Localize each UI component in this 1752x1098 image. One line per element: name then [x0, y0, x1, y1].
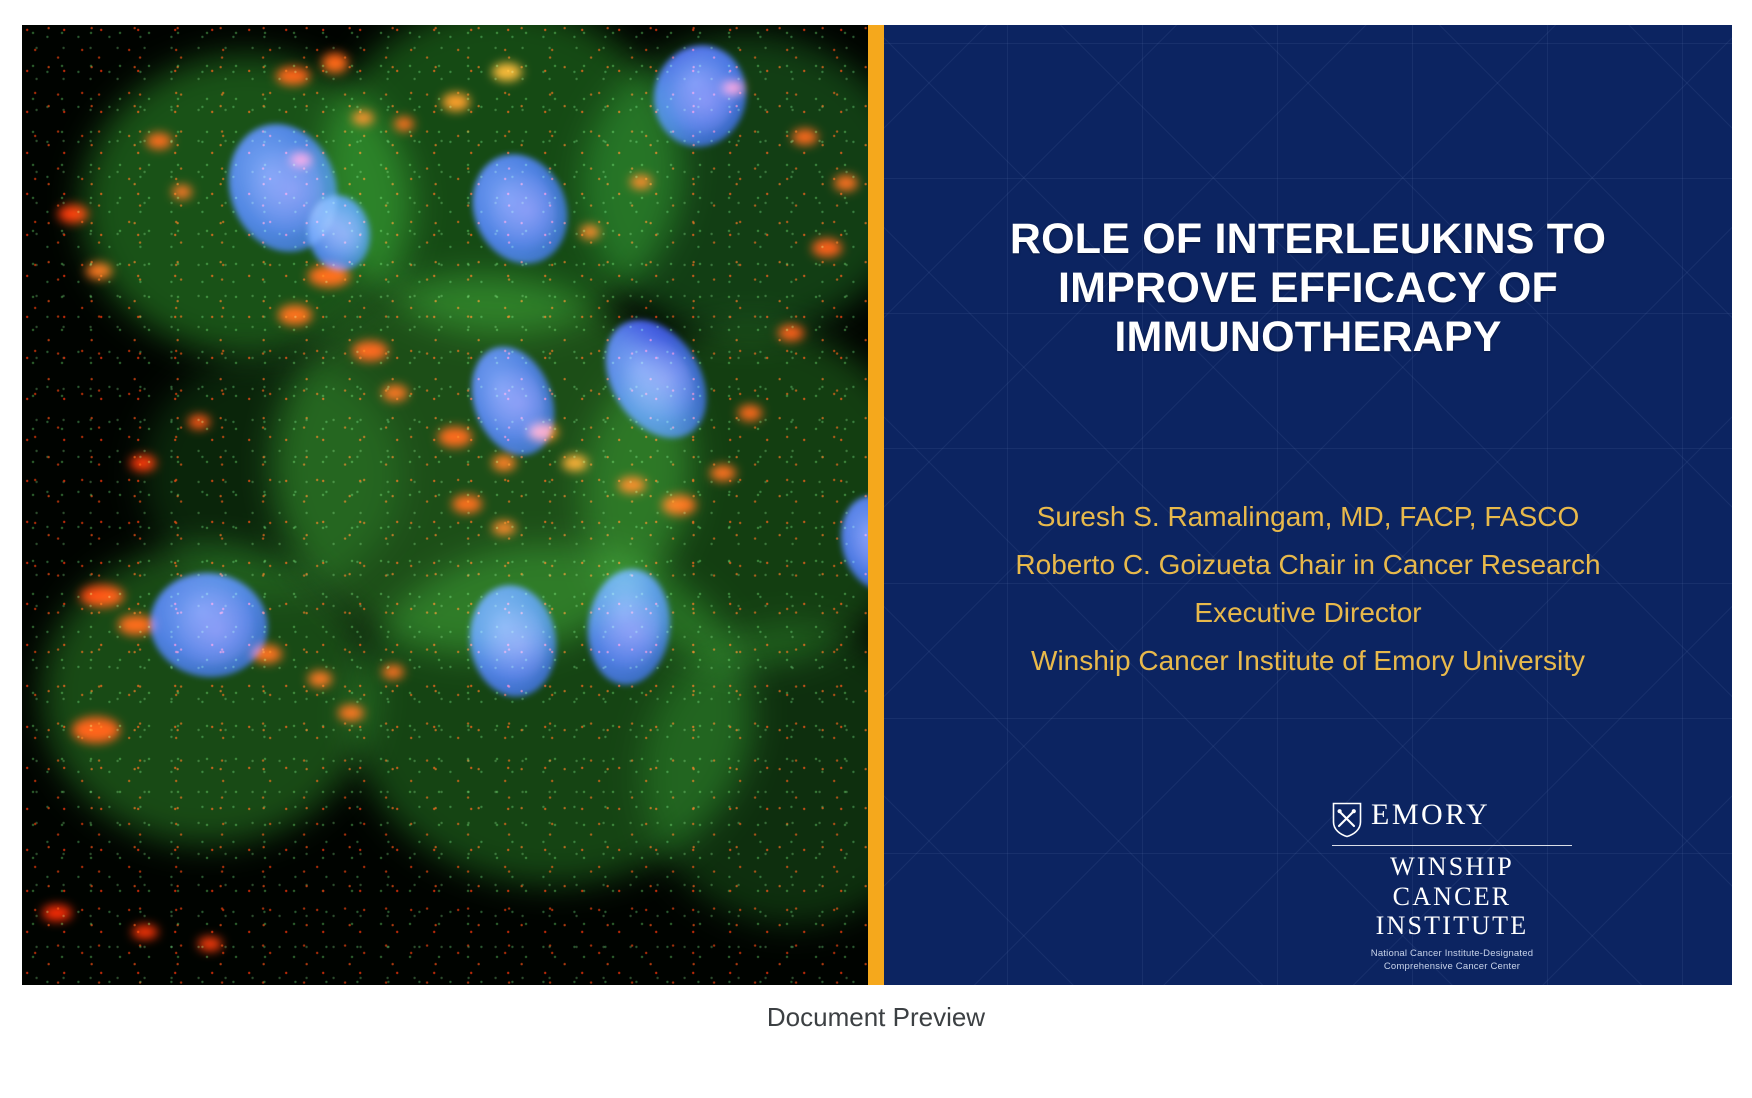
presenter-name: Suresh S. Ramalingam, MD, FACP, FASCO	[934, 493, 1682, 541]
gold-divider-bar	[868, 25, 884, 985]
document-preview-caption: Document Preview	[0, 1002, 1752, 1033]
title-line-3: IMMUNOTHERAPY	[1114, 313, 1501, 361]
emory-shield-icon	[1332, 802, 1362, 838]
title-line-2: IMPROVE EFFICACY OF	[1058, 264, 1558, 312]
logo-row: EMORY WINSHIP CANCER INSTITUTE National …	[884, 800, 1732, 960]
title-panel: ROLE OF INTERLEUKINS TO IMPROVE EFFICACY…	[884, 25, 1732, 985]
winship-line-1: WINSHIP	[1332, 852, 1572, 882]
winship-line-3: INSTITUTE	[1332, 911, 1572, 941]
speckle-texture	[22, 25, 868, 985]
emory-wordmark: EMORY	[1371, 800, 1490, 830]
presenter-affiliation: Winship Cancer Institute of Emory Univer…	[934, 637, 1682, 685]
title-line-1: ROLE OF INTERLEUKINS TO	[1010, 215, 1606, 263]
presentation-slide[interactable]: ROLE OF INTERLEUKINS TO IMPROVE EFFICACY…	[22, 25, 1732, 985]
document-preview-page: ROLE OF INTERLEUKINS TO IMPROVE EFFICACY…	[0, 0, 1752, 1098]
emory-subtext-line-2: Comprehensive Cancer Center	[1332, 961, 1572, 974]
winship-line-2: CANCER	[1332, 882, 1572, 912]
slide-title: ROLE OF INTERLEUKINS TO IMPROVE EFFICACY…	[954, 215, 1662, 362]
emory-subtext-line-1: National Cancer Institute-Designated	[1332, 948, 1572, 961]
presenter-role: Executive Director	[934, 589, 1682, 637]
fluorescence-micrograph-image	[22, 25, 868, 985]
emory-winship-logo: EMORY WINSHIP CANCER INSTITUTE National …	[1332, 800, 1572, 958]
presenter-details: Suresh S. Ramalingam, MD, FACP, FASCO Ro…	[934, 493, 1682, 686]
presenter-chair: Roberto C. Goizueta Chair in Cancer Rese…	[934, 541, 1682, 589]
emory-subtext: National Cancer Institute-Designated Com…	[1332, 948, 1572, 974]
emory-divider-rule	[1332, 845, 1572, 846]
